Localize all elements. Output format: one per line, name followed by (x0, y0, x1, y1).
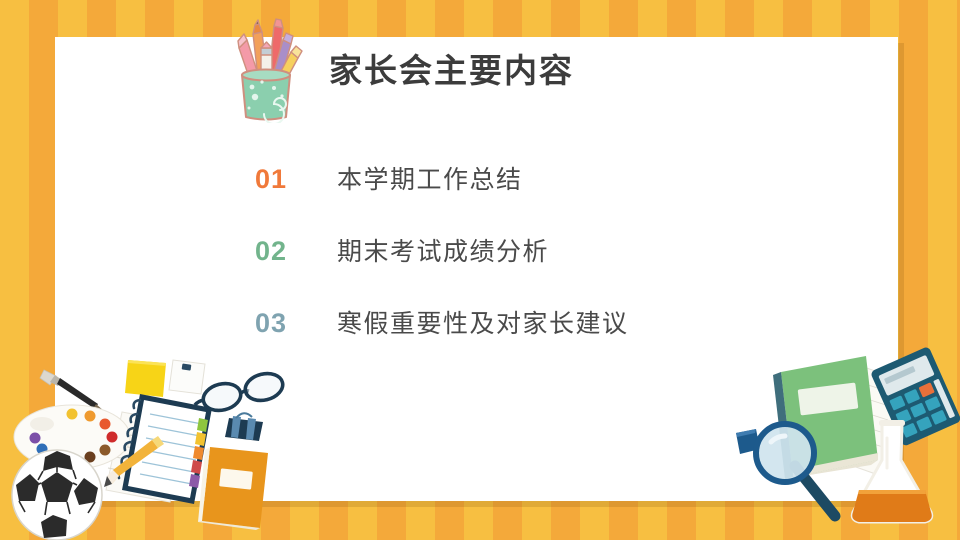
agenda-label-02: 期末考试成绩分析 (337, 232, 549, 268)
agenda-label-01: 本学期工作总结 (337, 160, 523, 196)
agenda-label-03: 寒假重要性及对家长建议 (337, 304, 629, 340)
page-title: 家长会主要内容 (329, 54, 574, 87)
agenda-item-03[interactable]: 03 寒假重要性及对家长建议 (255, 304, 629, 376)
agenda-number-01: 01 (255, 164, 337, 195)
slide-header: 家长会主要内容 (225, 18, 574, 123)
agenda-number-03: 03 (255, 308, 337, 339)
agenda-list: 01 本学期工作总结 02 期末考试成绩分析 03 寒假重要性及对家长建议 (255, 160, 629, 376)
agenda-item-02[interactable]: 02 期末考试成绩分析 (255, 232, 629, 304)
agenda-item-01[interactable]: 01 本学期工作总结 (255, 160, 629, 232)
slide-canvas: 家长会主要内容 01 本学期工作总结 02 期末考试成绩分析 03 寒假重要性及… (0, 0, 960, 540)
agenda-number-02: 02 (255, 236, 337, 267)
pencil-cup-icon (225, 18, 307, 123)
